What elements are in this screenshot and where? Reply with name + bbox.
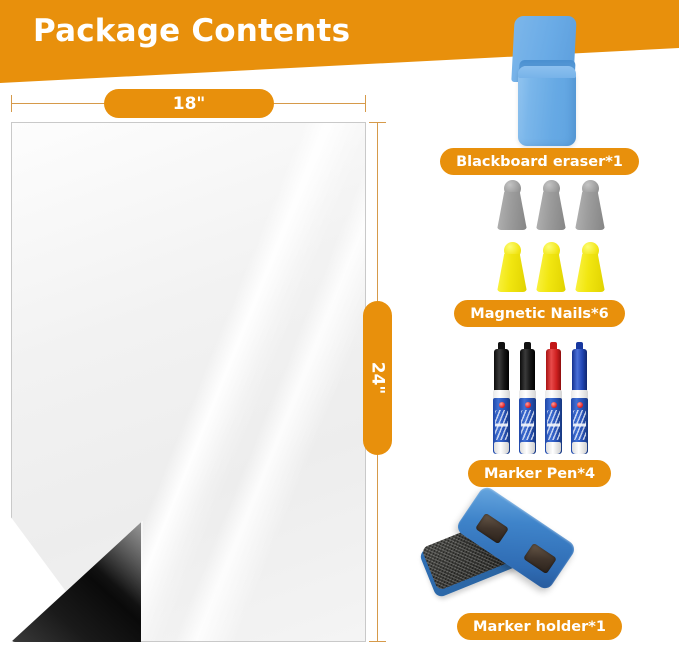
width-dimension-cap-right xyxy=(365,95,366,112)
package-contents-infographic: Package Contents 18" 24" Blackboard eras… xyxy=(0,0,679,647)
eraser-rim xyxy=(518,66,576,78)
marker-foot xyxy=(494,442,509,454)
marker-cap xyxy=(546,349,561,393)
marker-pen-black-1 xyxy=(493,342,510,454)
marker-script-logo xyxy=(547,410,560,440)
magnet-pin-gray-1 xyxy=(495,180,529,230)
marker-pen-label: Marker Pen*4 xyxy=(468,460,611,487)
marker-foot xyxy=(572,442,587,454)
marker-pen-blue xyxy=(571,342,588,454)
marker-script-logo xyxy=(573,410,586,440)
marker-cap xyxy=(520,349,535,393)
pin-body xyxy=(536,254,566,292)
item-marker-holder: Marker holder*1 xyxy=(400,503,679,640)
pin-body xyxy=(575,192,605,230)
marker-pen-red xyxy=(545,342,562,454)
pin-body xyxy=(575,254,605,292)
pin-body xyxy=(536,192,566,230)
magnet-pin-gray-2 xyxy=(534,180,568,230)
magnet-pin-yellow-2 xyxy=(534,242,568,292)
marker-script-logo xyxy=(521,410,534,440)
marker-foot xyxy=(520,442,535,454)
marker-brand-dot xyxy=(525,402,531,408)
marker-cap xyxy=(494,349,509,393)
pin-body xyxy=(497,254,527,292)
marker-pen-black-2 xyxy=(519,342,536,454)
magnetic-nail-pins-icon xyxy=(400,180,679,300)
marker-brand-dot xyxy=(499,402,505,408)
whiteboard-sheet xyxy=(11,122,366,642)
item-magnetic-nails: Magnetic Nails*6 xyxy=(400,180,679,327)
marker-foot xyxy=(546,442,561,454)
magnet-pin-gray-3 xyxy=(573,180,607,230)
blackboard-eraser-icon xyxy=(400,8,679,148)
magnetic-nails-label: Magnetic Nails*6 xyxy=(454,300,624,327)
marker-pens-icon xyxy=(400,342,679,460)
marker-script-logo xyxy=(495,410,508,440)
height-label: 24" xyxy=(363,301,392,455)
magnet-pin-yellow-1 xyxy=(495,242,529,292)
width-label: 18" xyxy=(104,89,274,118)
magnetic-marker-holder-icon xyxy=(400,503,679,613)
marker-brand-dot xyxy=(551,402,557,408)
eraser-body xyxy=(518,66,576,146)
pin-body xyxy=(497,192,527,230)
magnet-pin-yellow-3 xyxy=(573,242,607,292)
marker-brand-dot xyxy=(577,402,583,408)
page-title: Package Contents xyxy=(33,13,350,49)
width-dimension-cap-left xyxy=(11,95,12,112)
height-dimension-cap-top xyxy=(369,122,386,123)
items-column: Blackboard eraser*1 Magnetic Nails*6 xyxy=(400,0,679,647)
marker-cap xyxy=(572,349,587,393)
item-blackboard-eraser: Blackboard eraser*1 xyxy=(400,8,679,175)
marker-holder-label: Marker holder*1 xyxy=(457,613,622,640)
height-label-text: 24" xyxy=(368,362,388,395)
whiteboard-surface xyxy=(11,122,366,642)
height-dimension-cap-bottom xyxy=(369,641,386,642)
blackboard-eraser-label: Blackboard eraser*1 xyxy=(440,148,639,175)
item-marker-pen: Marker Pen*4 xyxy=(400,342,679,487)
